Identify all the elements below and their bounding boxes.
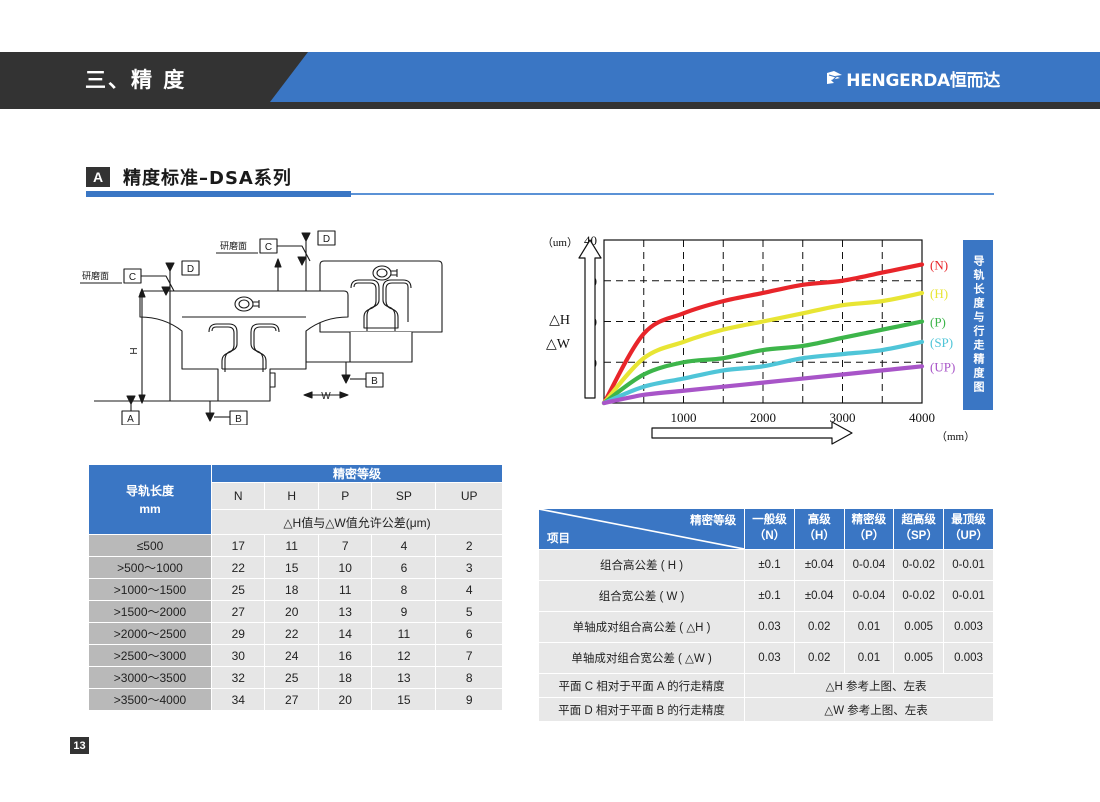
accuracy-chart: 102030401000200030004000（um）（mm）△H△W(N)(…	[532, 228, 1002, 453]
rail-length-header: 导轨长度mm	[89, 465, 211, 534]
eagle-mark-icon	[825, 69, 844, 88]
legend-UP: (UP)	[930, 359, 955, 374]
tolerance-value: 3	[436, 557, 502, 578]
svg-text:C: C	[265, 242, 272, 253]
grade-value: 0-0.02	[894, 581, 943, 611]
svg-text:H: H	[129, 347, 140, 354]
svg-text:研磨面: 研磨面	[220, 241, 247, 252]
page-root: 三、精 度 HENGERDA恒而达 A 精度标准–DSA系列	[0, 0, 1100, 802]
tolerance-value: 34	[212, 689, 264, 710]
tolerance-value: 7	[436, 645, 502, 666]
tolerance-value: 27	[265, 689, 317, 710]
grade-value: ±0.1	[745, 550, 794, 580]
tolerance-value: 17	[212, 535, 264, 556]
tolerance-note: △H值与△W值允许公差(μm)	[212, 510, 502, 534]
grade-col-SP: SP	[372, 483, 435, 509]
technical-diagrams: C 研磨面 D A	[80, 225, 510, 425]
tolerance-value: 32	[212, 667, 264, 688]
item-label: 组合宽公差 ( W )	[539, 581, 744, 611]
y-caption-1: △W	[546, 337, 571, 352]
svg-text:D: D	[323, 234, 330, 245]
x-tick-1000: 1000	[671, 410, 697, 425]
section-rule-thin	[351, 193, 994, 195]
tolerance-value: 10	[319, 557, 371, 578]
grade-value: 0.003	[944, 643, 993, 673]
tolerance-value: 8	[436, 667, 502, 688]
corner-bottom-label: 项目	[547, 530, 570, 546]
grade-value: 0.005	[894, 612, 943, 642]
table-row: 组合宽公差 ( W )±0.1±0.040-0.040-0.020-0.01	[539, 581, 993, 611]
section-title: 精度标准–DSA系列	[123, 164, 292, 190]
table-row: >2000～2500292214116	[89, 623, 502, 644]
svg-text:A: A	[127, 414, 134, 425]
table-row: 平面 D 相对于平面 B 的行走精度△W 参考上图、左表	[539, 698, 993, 721]
tolerance-value: 7	[319, 535, 371, 556]
tolerance-value: 12	[372, 645, 435, 666]
range-label: >3000～3500	[89, 667, 211, 688]
tolerance-value: 18	[319, 667, 371, 688]
grade-header: 精密等级	[212, 465, 502, 482]
svg-text:W: W	[321, 391, 331, 402]
section-heading: A 精度标准–DSA系列	[86, 164, 292, 190]
tolerance-value: 30	[212, 645, 264, 666]
tolerance-value: 20	[319, 689, 371, 710]
tolerance-value: 25	[212, 579, 264, 600]
grade-value: 0.03	[745, 612, 794, 642]
accuracy-grade-table: 精密等级项目一般级（N）高级（H）精密级（P）超高级（SP）最顶级（UP）组合高…	[538, 508, 994, 722]
item-label: 单轴成对组合宽公差 ( △W )	[539, 643, 744, 673]
tolerance-value: 22	[265, 623, 317, 644]
table-row: ≤5001711742	[89, 535, 502, 556]
tolerance-value: 6	[436, 623, 502, 644]
rail-length-tolerance-table: 导轨长度mm精密等级NHPSPUP△H值与△W值允许公差(μm)≤5001711…	[88, 464, 503, 711]
y-axis-unit: （um）	[542, 236, 578, 249]
grade-value: 0-0.04	[845, 550, 894, 580]
table-row: >1500～200027201395	[89, 601, 502, 622]
tolerance-value: 13	[372, 667, 435, 688]
tolerance-value: 5	[436, 601, 502, 622]
tolerance-value: 27	[212, 601, 264, 622]
x-tick-2000: 2000	[750, 410, 776, 425]
table-row: >2500～3000302416127	[89, 645, 502, 666]
section-rule-thick	[86, 191, 351, 197]
legend-P: (P)	[930, 315, 946, 330]
tolerance-value: 14	[319, 623, 371, 644]
grade-col-UP: UP	[436, 483, 502, 509]
table-row: >500～100022151063	[89, 557, 502, 578]
grade-value: 0.02	[795, 612, 844, 642]
item-label: 组合高公差 ( H )	[539, 550, 744, 580]
grade-value: 0.01	[845, 643, 894, 673]
legend-N: (N)	[930, 257, 948, 272]
tolerance-value: 6	[372, 557, 435, 578]
range-label: >1000～1500	[89, 579, 211, 600]
table-row: >3500～4000342720159	[89, 689, 502, 710]
grade-column-2: 精密级（P）	[845, 509, 894, 549]
svg-text:B: B	[235, 414, 242, 425]
range-label: ≤500	[89, 535, 211, 556]
svg-text:D: D	[187, 264, 194, 275]
grade-col-H: H	[265, 483, 317, 509]
section-badge: A	[86, 167, 110, 187]
tolerance-value: 11	[372, 623, 435, 644]
table-row: 单轴成对组合宽公差 ( △W )0.030.020.010.0050.003	[539, 643, 993, 673]
grade-column-0: 一般级（N）	[745, 509, 794, 549]
page-title: 三、精 度	[85, 64, 186, 94]
grade-value: 0.01	[845, 612, 894, 642]
legend-H: (H)	[930, 286, 948, 301]
range-label: >1500～2000	[89, 601, 211, 622]
tolerance-value: 8	[372, 579, 435, 600]
tolerance-value: 4	[436, 579, 502, 600]
tolerance-value: 18	[265, 579, 317, 600]
brand-name: HENGERDA恒而达	[846, 66, 1000, 91]
x-axis-unit: （mm）	[936, 430, 975, 443]
grade-value: ±0.04	[795, 581, 844, 611]
legend-SP: (SP)	[930, 335, 953, 350]
svg-text:研磨面: 研磨面	[82, 271, 109, 282]
grade-column-4: 最顶级（UP）	[944, 509, 993, 549]
tolerance-value: 25	[265, 667, 317, 688]
tolerance-value: 22	[212, 557, 264, 578]
table-row: 组合高公差 ( H )±0.1±0.040-0.040-0.020-0.01	[539, 550, 993, 580]
grade-value: ±0.04	[795, 550, 844, 580]
brand-logo: HENGERDA恒而达	[825, 66, 1000, 91]
grade-col-P: P	[319, 483, 371, 509]
table-row: 平面 C 相对于平面 A 的行走精度△H 参考上图、左表	[539, 674, 993, 697]
tolerance-value: 4	[372, 535, 435, 556]
grade-value: 0-0.04	[845, 581, 894, 611]
range-label: >2000～2500	[89, 623, 211, 644]
grade-value: 0-0.01	[944, 581, 993, 611]
tolerance-value: 24	[265, 645, 317, 666]
table-row: >1000～150025181184	[89, 579, 502, 600]
tolerance-value: 9	[372, 601, 435, 622]
tolerance-value: 15	[372, 689, 435, 710]
tolerance-value: 2	[436, 535, 502, 556]
range-label: >500～1000	[89, 557, 211, 578]
item-label: 平面 D 相对于平面 B 的行走精度	[539, 698, 744, 721]
grade-column-1: 高级（H）	[795, 509, 844, 549]
grade-value: ±0.1	[745, 581, 794, 611]
corner-top-label: 精密等级	[690, 512, 736, 528]
reference-note: △H 参考上图、左表	[745, 674, 993, 697]
grade-value: 0-0.02	[894, 550, 943, 580]
page-number: 13	[70, 737, 89, 754]
chart-side-tab: 导轨长度与行走精度图	[963, 240, 993, 410]
tolerance-value: 20	[265, 601, 317, 622]
tolerance-value: 11	[319, 579, 371, 600]
tolerance-value: 29	[212, 623, 264, 644]
table-row: 单轴成对组合高公差 ( △H )0.030.020.010.0050.003	[539, 612, 993, 642]
table-corner-header: 精密等级项目	[539, 509, 744, 549]
grade-value: 0.02	[795, 643, 844, 673]
y-caption-0: △H	[549, 313, 570, 328]
grade-value: 0.003	[944, 612, 993, 642]
item-label: 单轴成对组合高公差 ( △H )	[539, 612, 744, 642]
range-label: >2500～3000	[89, 645, 211, 666]
tolerance-value: 9	[436, 689, 502, 710]
tolerance-value: 11	[265, 535, 317, 556]
x-tick-4000: 4000	[909, 410, 935, 425]
reference-note: △W 参考上图、左表	[745, 698, 993, 721]
tolerance-value: 15	[265, 557, 317, 578]
grade-value: 0.03	[745, 643, 794, 673]
range-label: >3500～4000	[89, 689, 211, 710]
tolerance-value: 16	[319, 645, 371, 666]
svg-text:B: B	[371, 376, 378, 387]
item-label: 平面 C 相对于平面 A 的行走精度	[539, 674, 744, 697]
svg-text:C: C	[129, 272, 136, 283]
grade-column-3: 超高级（SP）	[894, 509, 943, 549]
grade-value: 0-0.01	[944, 550, 993, 580]
grade-col-N: N	[212, 483, 264, 509]
grade-value: 0.005	[894, 643, 943, 673]
tolerance-value: 13	[319, 601, 371, 622]
table-row: >3000～3500322518138	[89, 667, 502, 688]
